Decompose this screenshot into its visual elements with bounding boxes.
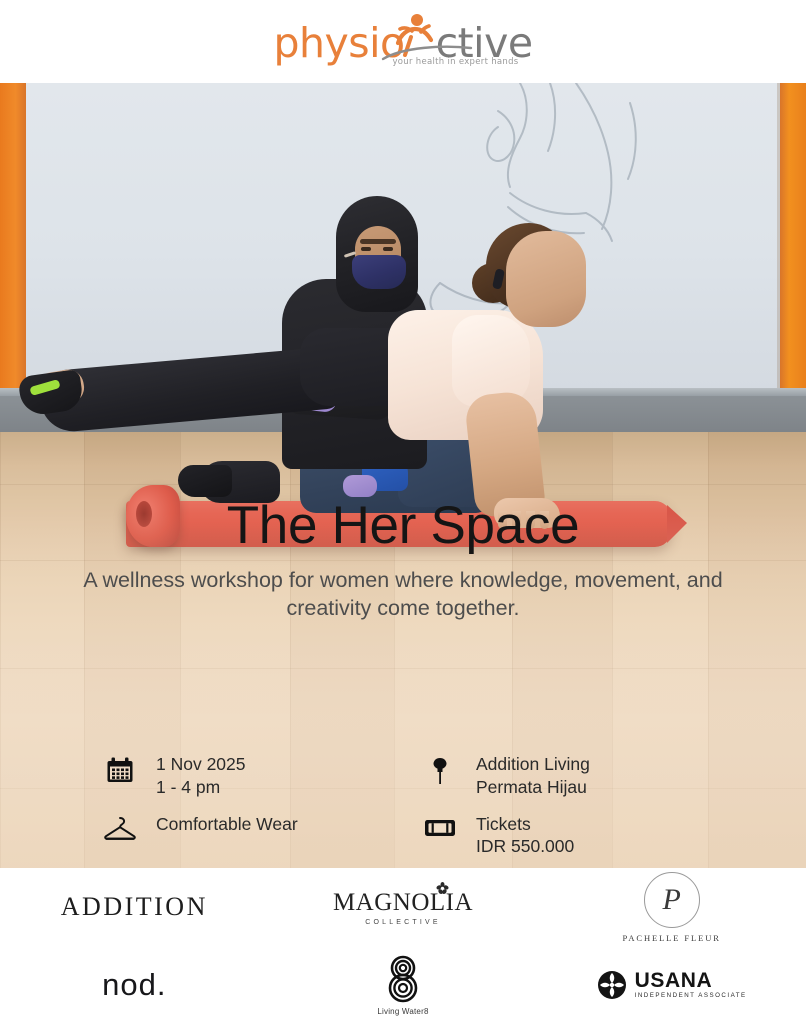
detail-dresscode-line1: Comfortable Wear [156, 813, 298, 836]
sponsor-nod-label: nod. [102, 967, 166, 1003]
calendar-icon [100, 753, 140, 786]
sponsor-living-water8[interactable]: Living Water8 [377, 954, 428, 1016]
sponsor-usana-label: USANA [635, 970, 747, 991]
sponsor-addition[interactable]: ADDITION [61, 892, 208, 922]
sponsor-magnolia-sublabel: COLLECTIVE [333, 919, 473, 926]
location-pin-icon [420, 753, 460, 786]
detail-tickets: Tickets IDR 550.000 [420, 813, 740, 859]
detail-location-line1: Addition Living [476, 753, 590, 776]
detail-dresscode: Comfortable Wear [100, 813, 420, 859]
physioactive-logo[interactable]: physioctive your health in expert hands [253, 11, 553, 73]
detail-location: Addition Living Permata Hijau [420, 753, 740, 799]
sponsor-nod[interactable]: nod. [102, 967, 166, 1003]
detail-date-line2: 1 - 4 pm [156, 776, 246, 799]
detail-tickets-line2: IDR 550.000 [476, 835, 574, 858]
detail-date-line1: 1 Nov 2025 [156, 753, 246, 776]
brand-header: physioctive your health in expert hands [0, 0, 806, 83]
usana-emblem-icon [597, 970, 627, 1000]
detail-location-text: Addition Living Permata Hijau [476, 753, 590, 799]
logo-tagline: your health in expert hands [358, 57, 553, 67]
detail-date-text: 1 Nov 2025 1 - 4 pm [156, 753, 246, 799]
sponsor-pachelle-fleur[interactable]: P PACHELLE FLEUR [623, 872, 721, 943]
detail-date: 1 Nov 2025 1 - 4 pm [100, 753, 420, 799]
sponsor-magnolia[interactable]: MAGNOLIA COLLECTIVE [333, 889, 473, 926]
pachelle-monogram-circle: P [644, 872, 700, 928]
event-details: 1 Nov 2025 1 - 4 pm Addition Living Perm… [100, 753, 740, 858]
detail-location-line2: Permata Hijau [476, 776, 590, 799]
sponsor-living-water8-label: Living Water8 [377, 1007, 428, 1016]
hanger-icon [100, 813, 140, 841]
sponsor-magnolia-label: MAGNOLIA [333, 889, 473, 917]
detail-tickets-text: Tickets IDR 550.000 [476, 813, 574, 859]
sponsor-usana-sublabel: INDEPENDENT ASSOCIATE [635, 993, 747, 999]
page-subtitle: A wellness workshop for women where know… [83, 566, 723, 623]
sponsor-pachelle-label: PACHELLE FLEUR [623, 933, 721, 943]
sponsor-usana[interactable]: USANA INDEPENDENT ASSOCIATE [597, 970, 747, 1000]
sponsor-addition-label: ADDITION [61, 892, 208, 922]
ticket-icon [420, 813, 460, 841]
sponsor-footer: ADDITION MAGNOLIA COLLECTIVE P PACHELLE … [0, 868, 806, 1024]
detail-tickets-line1: Tickets [476, 813, 574, 836]
living-water8-infinity-icon [383, 954, 423, 1004]
page-title: The Her Space [227, 495, 580, 556]
flower-ornament-icon [436, 882, 449, 895]
hero-text-overlay: The Her Space A wellness workshop for wo… [0, 83, 806, 868]
pachelle-monogram-letter: P [662, 885, 680, 915]
hero-photo: The Her Space A wellness workshop for wo… [0, 83, 806, 868]
detail-dresscode-text: Comfortable Wear [156, 813, 298, 836]
